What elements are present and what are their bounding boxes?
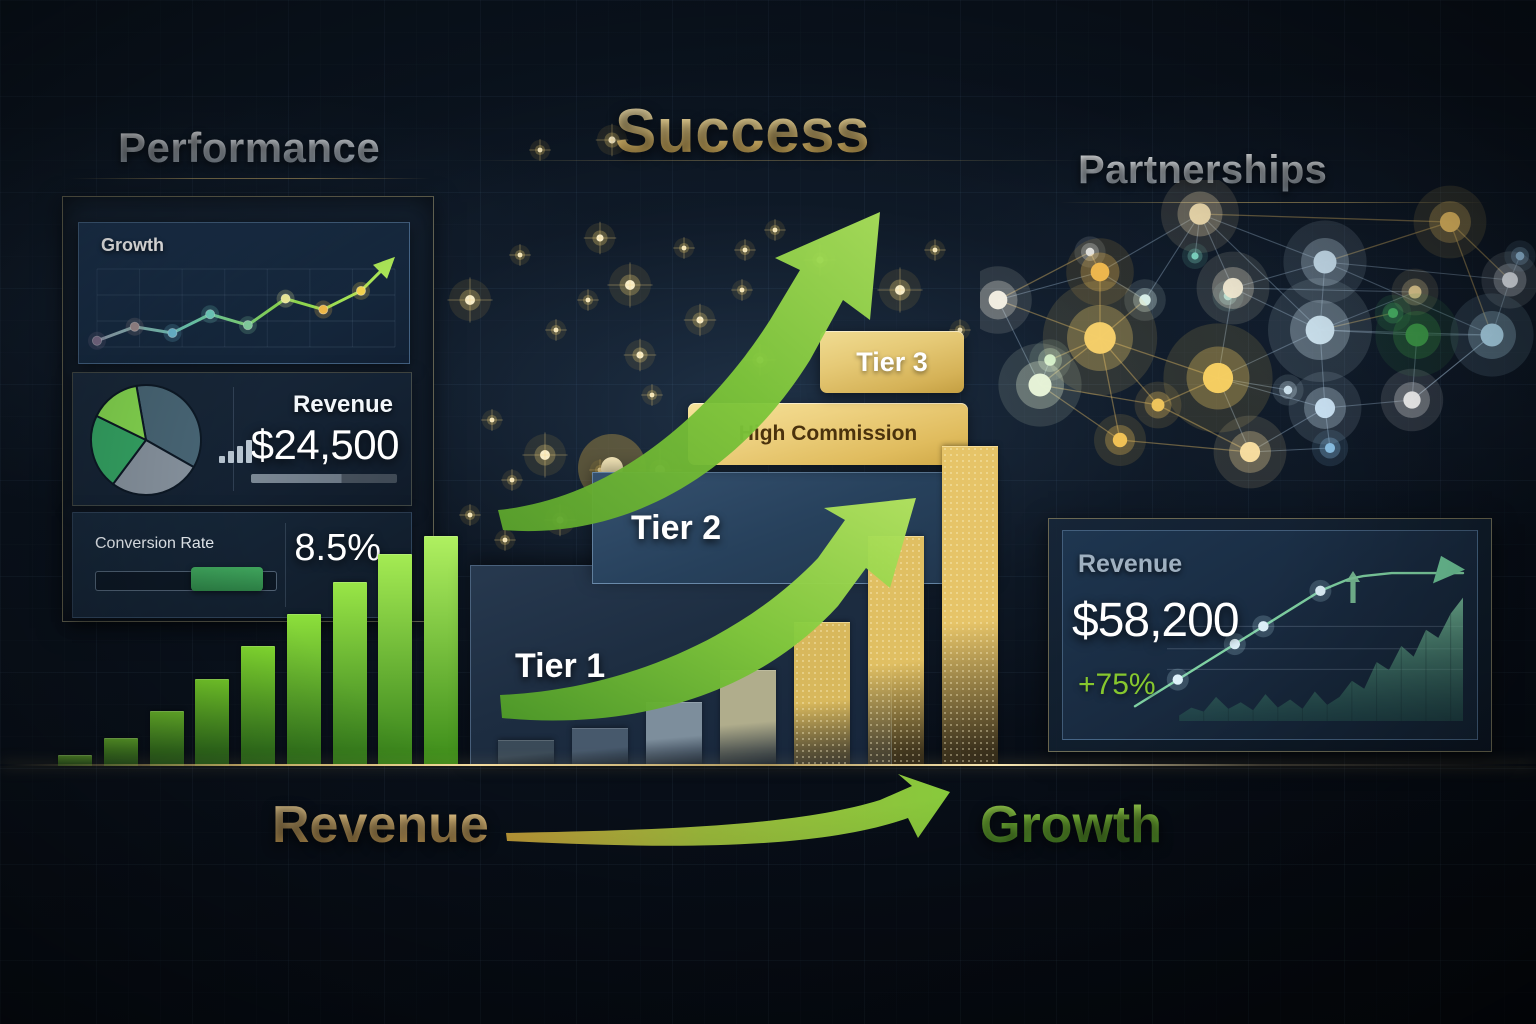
left-green-bar-chart <box>58 536 458 766</box>
high-commission-label: High Commission <box>688 422 968 446</box>
right-revenue-label: Revenue <box>1078 550 1182 579</box>
green-bar <box>424 536 458 766</box>
tier-bar <box>572 728 628 766</box>
infographic-canvas: Performance Success Partnerships Growth … <box>0 0 1536 1024</box>
green-bar <box>241 646 275 766</box>
growth-line-chart <box>79 223 409 363</box>
revenue-pie-chart <box>87 381 205 499</box>
footer-growth-label: Growth <box>980 795 1162 855</box>
heading-rule-center <box>470 160 1080 161</box>
revenue-card-label: Revenue <box>293 391 393 419</box>
tier-bar <box>720 670 776 766</box>
partnership-network-graph <box>980 180 1536 510</box>
tier-bar <box>646 702 702 766</box>
heading-performance: Performance <box>118 124 380 172</box>
heading-rule-left <box>70 178 430 179</box>
footer-revenue-label: Revenue <box>272 795 489 855</box>
green-bar <box>287 614 321 766</box>
right-revenue-value: $58,200 <box>1072 593 1239 648</box>
tier-3-label: Tier 3 <box>820 347 964 378</box>
bar-sparkline-icon <box>219 439 251 463</box>
revenue-progress-bar <box>251 474 397 483</box>
right-revenue-delta: +75% <box>1078 668 1156 702</box>
green-bar <box>195 679 229 766</box>
green-bar <box>333 582 367 766</box>
tier-bar <box>498 740 554 766</box>
green-bar <box>150 711 184 766</box>
center-tier-bar-chart <box>498 446 998 766</box>
green-bar <box>104 738 138 766</box>
green-bar <box>378 554 412 766</box>
tier-3-block[interactable]: Tier 3 <box>820 331 964 393</box>
revenue-metric-card[interactable]: Revenue $24,500 <box>72 372 412 506</box>
heading-success: Success <box>615 96 870 167</box>
growth-chart-card[interactable]: Growth <box>78 222 410 364</box>
revenue-card-value: $24,500 <box>251 421 399 469</box>
tier-bar <box>868 536 924 766</box>
footer-divider-line <box>0 764 1536 766</box>
tier-bar <box>794 622 850 766</box>
